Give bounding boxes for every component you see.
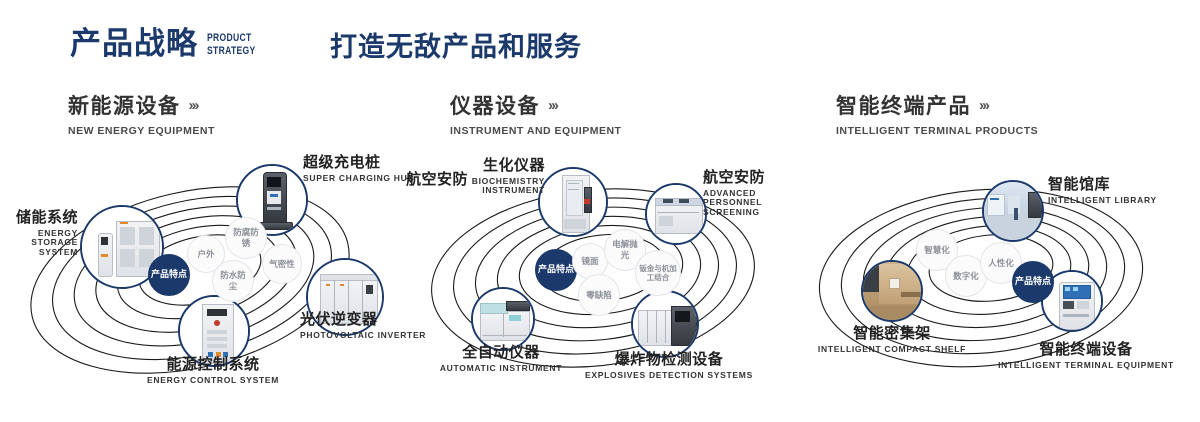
diagram-group-instrument: 航空安防 生化仪器 BIOCHEMISTRY INSTRUMENT bbox=[398, 150, 798, 415]
feature-bubble-zero-defect: 零缺陷 bbox=[578, 274, 620, 316]
node-label-cn: 储能系统 bbox=[0, 210, 78, 227]
screening-machine-icon bbox=[647, 185, 705, 243]
feature-bubble-label: 钣金与机加工结合 bbox=[639, 264, 677, 283]
diagram-group-new-energy: 储能系统 ENERGY STORAGE SYSTEM 超级充电桩 SUPER C… bbox=[0, 150, 400, 415]
library-hall-icon bbox=[984, 182, 1042, 240]
page-slogan: 打造无敌产品和服务 bbox=[330, 33, 582, 63]
node-label-energy-storage-system: 储能系统 ENERGY STORAGE SYSTEM bbox=[0, 210, 78, 257]
section-title-instrument: 仪器设备››› INSTRUMENT AND EQUIPMENT bbox=[450, 96, 621, 137]
section-title-en: INSTRUMENT AND EQUIPMENT bbox=[450, 125, 621, 137]
node-label-automatic-instrument: 全自动仪器 AUTOMATIC INSTRUMENT bbox=[388, 345, 614, 373]
core-bubble-label: 产品特点 bbox=[538, 264, 574, 275]
chevron-right-icon: ››› bbox=[189, 97, 198, 114]
feature-bubble-label: 智慧化 bbox=[924, 245, 950, 256]
feature-bubble-label: 防水防尘 bbox=[219, 270, 247, 291]
section-title-new-energy: 新能源设备››› NEW ENERGY EQUIPMENT bbox=[68, 96, 215, 137]
node-label-en: ENERGY CONTROL SYSTEM bbox=[88, 376, 338, 386]
node-automatic-instrument[interactable] bbox=[471, 287, 535, 351]
node-label-en: ADVANCED PERSONNEL SCREENING bbox=[703, 189, 795, 218]
compact-shelf-icon bbox=[863, 262, 921, 320]
node-label-en: ENERGY STORAGE SYSTEM bbox=[0, 229, 78, 258]
node-advanced-personnel-screening[interactable] bbox=[645, 183, 707, 245]
node-label-en: INTELLIGENT COMPACT SHELF bbox=[812, 345, 972, 355]
section-title-cn: 仪器设备 bbox=[450, 96, 540, 117]
node-label-energy-control-system: 能源控制系统 ENERGY CONTROL SYSTEM bbox=[88, 357, 338, 385]
node-intelligent-library[interactable] bbox=[982, 180, 1044, 242]
page-title-en: PRODUCT STRATEGY bbox=[198, 33, 269, 59]
node-label-en: INTELLIGENT LIBRARY bbox=[1048, 196, 1157, 206]
diagram-group-intelligent-terminal: 智能馆库 INTELLIGENT LIBRARY 智能密集架 INTELLIGE… bbox=[786, 150, 1186, 415]
node-label-advanced-personnel-screening: 航空安防 ADVANCED PERSONNEL SCREENING bbox=[703, 170, 795, 217]
section-title-cn: 智能终端产品 bbox=[836, 96, 971, 117]
page-title-en-line1: PRODUCT bbox=[207, 33, 256, 44]
core-bubble-label: 产品特点 bbox=[151, 269, 187, 280]
feature-bubble-sheetmetal-machining: 钣金与机加工结合 bbox=[635, 250, 681, 296]
node-label-cn: 智能密集架 bbox=[812, 326, 972, 343]
page-header: 产品战略 PRODUCT STRATEGY bbox=[70, 28, 269, 59]
automatic-instrument-icon bbox=[473, 289, 533, 349]
product-strategy-infographic: 产品战略 PRODUCT STRATEGY 打造无敌产品和服务 新能源设备›››… bbox=[0, 0, 1200, 422]
node-label-intelligent-library: 智能馆库 INTELLIGENT LIBRARY bbox=[1048, 177, 1157, 205]
page-title-en-line2: STRATEGY bbox=[207, 46, 256, 57]
node-label-biochemistry-instrument: 生化仪器 BIOCHEMISTRY INSTRUMENT bbox=[453, 158, 545, 196]
node-biochemistry-instrument[interactable] bbox=[538, 167, 608, 237]
feature-bubble-label: 电解抛光 bbox=[611, 239, 639, 260]
node-label-cn: 航空安防 bbox=[703, 170, 795, 187]
node-explosives-detection-systems[interactable] bbox=[631, 290, 699, 358]
section-title-en: NEW ENERGY EQUIPMENT bbox=[68, 125, 215, 137]
section-title-en: INTELLIGENT TERMINAL PRODUCTS bbox=[836, 125, 1038, 137]
feature-bubble-label: 数字化 bbox=[953, 271, 979, 282]
chevron-right-icon: ››› bbox=[548, 97, 557, 114]
page-title-cn: 产品战略 bbox=[70, 28, 198, 59]
node-label-en: INTELLIGENT TERMINAL EQUIPMENT bbox=[986, 361, 1186, 371]
feature-bubble-airtightness: 气密性 bbox=[262, 244, 302, 284]
feature-bubble-label: 防腐防锈 bbox=[232, 227, 260, 248]
feature-bubble-label: 人性化 bbox=[988, 258, 1014, 269]
section-title-intelligent-terminal: 智能终端产品››› INTELLIGENT TERMINAL PRODUCTS bbox=[836, 96, 1038, 137]
feature-bubble-label: 气密性 bbox=[269, 259, 295, 270]
explosives-detector-icon bbox=[633, 292, 697, 356]
node-label-cn: 能源控制系统 bbox=[88, 357, 338, 374]
chevron-right-icon: ››› bbox=[979, 97, 988, 114]
node-label-cn: 全自动仪器 bbox=[388, 345, 614, 362]
core-bubble-label: 产品特点 bbox=[1015, 276, 1051, 287]
core-bubble-product-features: 产品特点 bbox=[148, 254, 190, 296]
node-label-en: AUTOMATIC INSTRUMENT bbox=[388, 364, 614, 374]
feature-bubble-label: 户外 bbox=[197, 249, 214, 260]
node-label-cn: 爆炸物检测设备 bbox=[584, 352, 754, 369]
node-label-intelligent-compact-shelf: 智能密集架 INTELLIGENT COMPACT SHELF bbox=[812, 326, 972, 354]
biochemistry-analyzer-icon bbox=[540, 169, 606, 235]
feature-bubble-waterproof-dustproof: 防水防尘 bbox=[212, 260, 254, 302]
node-label-intelligent-terminal-equipment: 智能终端设备 INTELLIGENT TERMINAL EQUIPMENT bbox=[986, 342, 1186, 370]
node-label-explosives-detection-systems: 爆炸物检测设备 EXPLOSIVES DETECTION SYSTEMS bbox=[584, 352, 754, 380]
node-label-en: EXPLOSIVES DETECTION SYSTEMS bbox=[584, 371, 754, 381]
feature-bubble-label: 零缺陷 bbox=[586, 290, 612, 301]
core-bubble-product-features: 产品特点 bbox=[1012, 261, 1054, 303]
feature-bubble-label: 镜面 bbox=[581, 256, 598, 267]
core-bubble-product-features: 产品特点 bbox=[535, 249, 577, 291]
section-title-cn: 新能源设备 bbox=[68, 96, 181, 117]
node-label-cn: 智能馆库 bbox=[1048, 177, 1157, 194]
node-label-cn: 智能终端设备 bbox=[986, 342, 1186, 359]
node-label-en: BIOCHEMISTRY INSTRUMENT bbox=[453, 177, 545, 196]
node-label-cn: 生化仪器 bbox=[453, 158, 545, 175]
feature-bubble-anticorrosion: 防腐防锈 bbox=[225, 217, 267, 259]
node-intelligent-compact-shelf[interactable] bbox=[861, 260, 923, 322]
control-cabinet-icon bbox=[180, 297, 248, 365]
